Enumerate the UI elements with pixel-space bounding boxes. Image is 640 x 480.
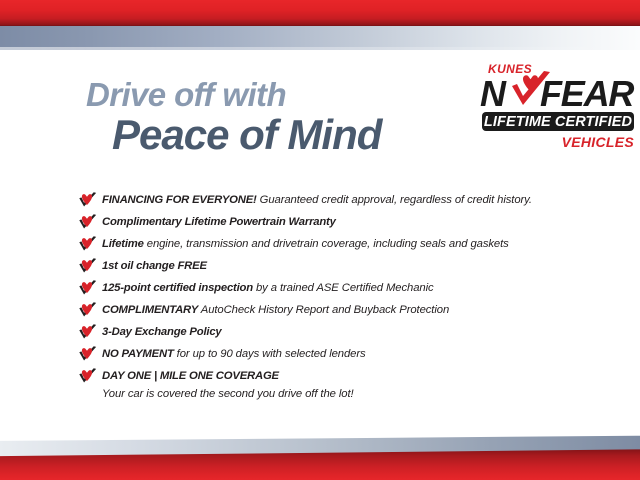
headline-line-2: Peace of Mind bbox=[112, 113, 486, 157]
benefit-headline: 125-point certified inspection bbox=[102, 282, 253, 294]
benefit-text: 125-point certified inspection by a trai… bbox=[102, 278, 598, 298]
heart-check-icon bbox=[78, 214, 97, 230]
benefit-headline: 1st oil change FREE bbox=[102, 260, 207, 272]
logo-vehicles-text: VEHICLES bbox=[562, 134, 634, 150]
headline-line-1: Drive off with bbox=[86, 78, 486, 111]
logo-letter-n: N bbox=[480, 73, 505, 115]
kunes-no-fear-logo: KUNES N FEAR LIFETIME CERTIFIED VEHICLES bbox=[478, 62, 636, 157]
benefit-headline: Complimentary Lifetime Powertrain Warran… bbox=[102, 216, 336, 228]
top-red-band bbox=[0, 0, 640, 26]
heart-check-icon bbox=[78, 236, 97, 252]
benefit-text: DAY ONE | MILE ONE COVERAGE bbox=[102, 366, 598, 386]
benefit-text: Lifetime engine, transmission and drivet… bbox=[102, 234, 598, 254]
benefits-list: FINANCING FOR EVERYONE! Guaranteed credi… bbox=[78, 190, 598, 404]
heart-check-icon bbox=[78, 280, 97, 296]
benefit-item: DAY ONE | MILE ONE COVERAGEYour car is c… bbox=[78, 366, 598, 403]
benefit-headline: 3-Day Exchange Policy bbox=[102, 326, 222, 338]
heart-check-icon bbox=[78, 346, 97, 362]
benefit-text: 3-Day Exchange Policy bbox=[102, 322, 598, 342]
heart-check-icon bbox=[78, 302, 97, 318]
benefit-item: Complimentary Lifetime Powertrain Warran… bbox=[78, 212, 598, 233]
benefit-detail: Guaranteed credit approval, regardless o… bbox=[257, 194, 532, 206]
heart-check-icon bbox=[78, 258, 97, 274]
logo-lifetime-certified-bar: LIFETIME CERTIFIED bbox=[482, 112, 634, 131]
benefit-detail: by a trained ASE Certified Mechanic bbox=[253, 282, 434, 294]
benefit-detail: AutoCheck History Report and Buyback Pro… bbox=[198, 304, 449, 316]
logo-wordmark: N FEAR bbox=[478, 75, 636, 109]
benefit-headline: Lifetime bbox=[102, 238, 144, 250]
logo-lifetime-certified-text: LIFETIME CERTIFIED bbox=[484, 114, 632, 130]
benefit-headline: COMPLIMENTARY bbox=[102, 304, 198, 316]
benefit-text: FINANCING FOR EVERYONE! Guaranteed credi… bbox=[102, 190, 598, 210]
benefit-item: 125-point certified inspection by a trai… bbox=[78, 278, 598, 299]
benefit-detail: for up to 90 days with selected lenders bbox=[174, 348, 366, 360]
heart-check-icon bbox=[78, 324, 97, 340]
benefit-item: COMPLIMENTARY AutoCheck History Report a… bbox=[78, 300, 598, 321]
headline-block: Drive off with Peace of Mind bbox=[86, 78, 486, 157]
benefit-text: 1st oil change FREE bbox=[102, 256, 598, 276]
benefit-item: Lifetime engine, transmission and drivet… bbox=[78, 234, 598, 255]
logo-word-fear: FEAR bbox=[540, 73, 633, 115]
benefit-subtext: Your car is covered the second you drive… bbox=[102, 386, 598, 403]
benefit-detail: engine, transmission and drivetrain cove… bbox=[144, 238, 509, 250]
heart-check-icon bbox=[78, 368, 97, 384]
benefit-text: NO PAYMENT for up to 90 days with select… bbox=[102, 344, 598, 364]
benefit-item: 3-Day Exchange Policy bbox=[78, 322, 598, 343]
benefit-headline: DAY ONE | MILE ONE COVERAGE bbox=[102, 370, 279, 382]
top-gray-band bbox=[0, 26, 640, 50]
benefit-item: 1st oil change FREE bbox=[78, 256, 598, 277]
benefit-item: NO PAYMENT for up to 90 days with select… bbox=[78, 344, 598, 365]
benefit-item: FINANCING FOR EVERYONE! Guaranteed credi… bbox=[78, 190, 598, 211]
benefit-headline: FINANCING FOR EVERYONE! bbox=[102, 194, 257, 206]
benefit-headline: NO PAYMENT bbox=[102, 348, 174, 360]
peace-of-mind-ad-banner: Drive off with Peace of Mind KUNES N FEA… bbox=[0, 0, 640, 480]
benefit-text: COMPLIMENTARY AutoCheck History Report a… bbox=[102, 300, 598, 320]
heart-check-icon bbox=[78, 192, 97, 208]
benefit-text: Complimentary Lifetime Powertrain Warran… bbox=[102, 212, 598, 232]
